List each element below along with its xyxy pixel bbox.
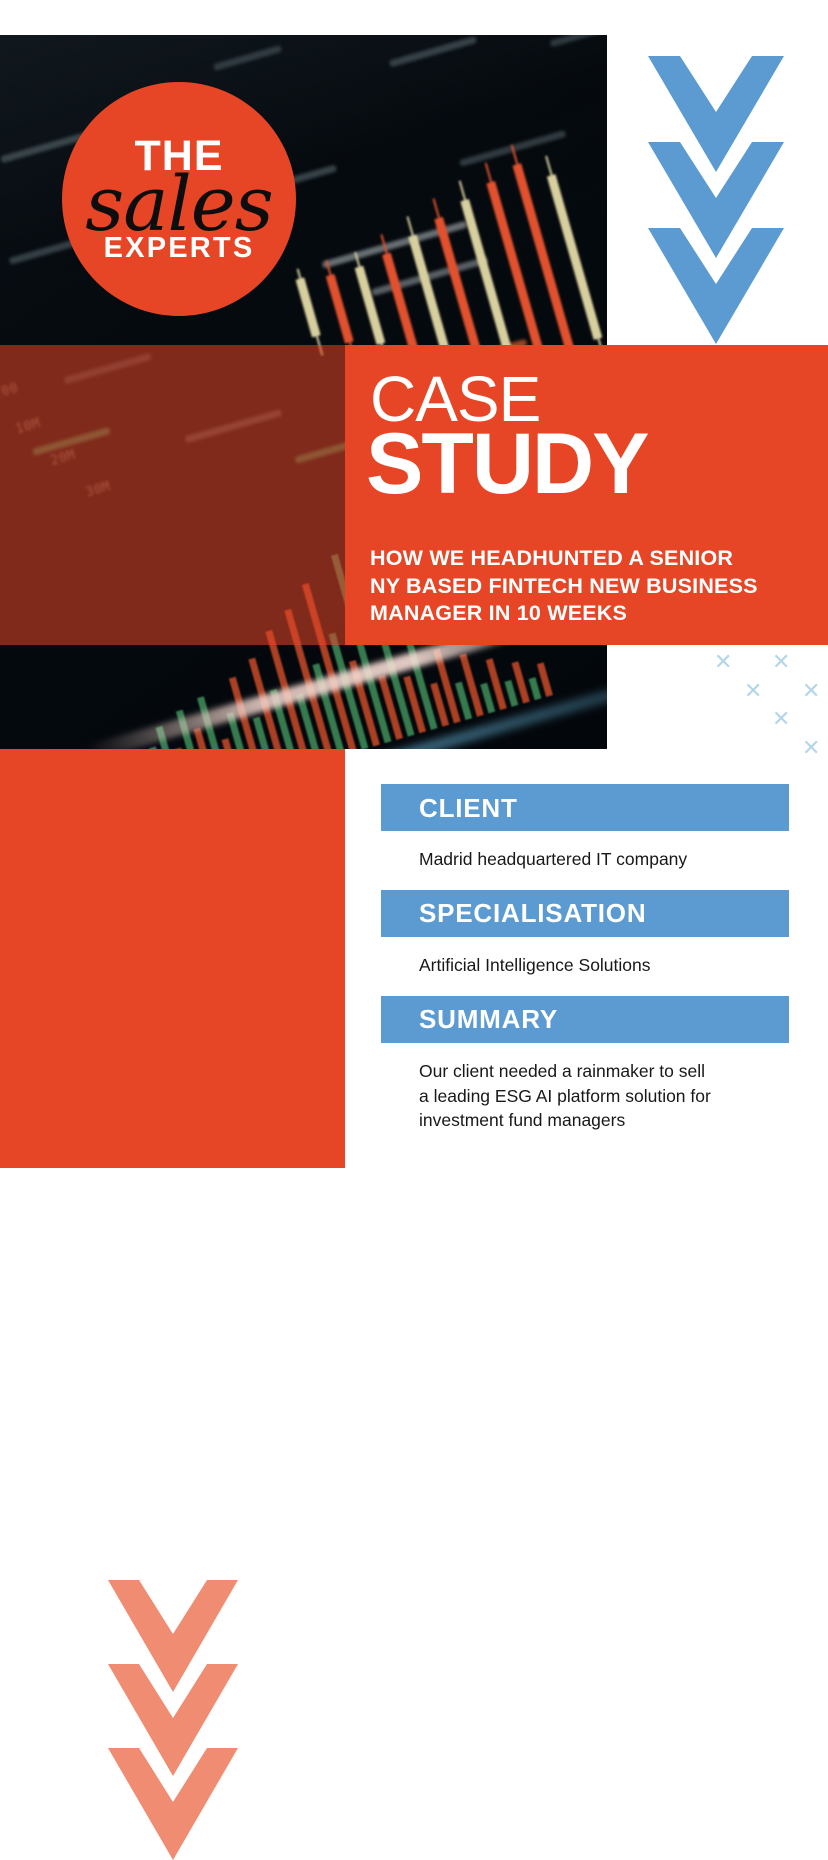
logo-text-experts: EXPERTS: [104, 234, 255, 263]
section-body-line: Artificial Intelligence Solutions: [419, 953, 789, 978]
case-study-page: 0.00 10M 20M 30M 3.000 3.500 3.558 THE s…: [0, 0, 828, 1168]
section-body-line: investment fund managers: [419, 1108, 789, 1133]
case-study-banner: CASE STUDY HOW WE HEADHUNTED A SENIOR NY…: [345, 345, 828, 645]
section-body-line: Our client needed a rainmaker to sell: [419, 1059, 789, 1084]
section-header-label: SUMMARY: [419, 1006, 558, 1032]
x-icon: ✕: [772, 651, 790, 673]
hero-subtitle-line: NY BASED FINTECH NEW BUSINESS: [370, 573, 800, 601]
x-icon: ✕: [714, 651, 732, 673]
info-sections: CLIENT Madrid headquartered IT company S…: [381, 784, 789, 1151]
section-header-client: CLIENT: [381, 784, 789, 831]
section-header-summary: SUMMARY: [381, 996, 789, 1043]
section-body-line: Madrid headquartered IT company: [419, 847, 789, 872]
hero-subtitle: HOW WE HEADHUNTED A SENIOR NY BASED FINT…: [370, 545, 800, 628]
chevron-down-icon: [108, 1748, 238, 1860]
logo: THE sales EXPERTS: [62, 82, 296, 316]
bottom-left-red-block: [0, 749, 345, 1168]
logo-text-sales: sales: [85, 168, 273, 240]
section-specialisation: SPECIALISATION Artificial Intelligence S…: [381, 890, 789, 996]
chevron-group-top-right: [648, 56, 784, 326]
section-summary: SUMMARY Our client needed a rainmaker to…: [381, 996, 789, 1152]
hero-subtitle-line: HOW WE HEADHUNTED A SENIOR: [370, 545, 800, 573]
section-header-label: CLIENT: [419, 795, 518, 821]
section-header-label: SPECIALISATION: [419, 900, 646, 926]
x-icon: ✕: [802, 680, 820, 702]
section-body-specialisation: Artificial Intelligence Solutions: [381, 937, 789, 996]
chevron-group-bottom-left: [108, 1580, 238, 1842]
x-icon: ✕: [802, 737, 820, 759]
x-icon: ✕: [744, 680, 762, 702]
chevron-down-icon: [648, 228, 784, 344]
section-client: CLIENT Madrid headquartered IT company: [381, 784, 789, 890]
section-header-specialisation: SPECIALISATION: [381, 890, 789, 937]
x-mark-pattern: ✕ ✕ ✕ ✕ ✕ ✕: [700, 645, 828, 765]
title-study: STUDY: [366, 421, 647, 507]
section-body-line: a leading ESG AI platform solution for: [419, 1084, 789, 1109]
hero-subtitle-line: MANAGER IN 10 WEEKS: [370, 600, 800, 628]
section-body-summary: Our client needed a rainmaker to sell a …: [381, 1043, 789, 1152]
section-body-client: Madrid headquartered IT company: [381, 831, 789, 890]
x-icon: ✕: [772, 708, 790, 730]
